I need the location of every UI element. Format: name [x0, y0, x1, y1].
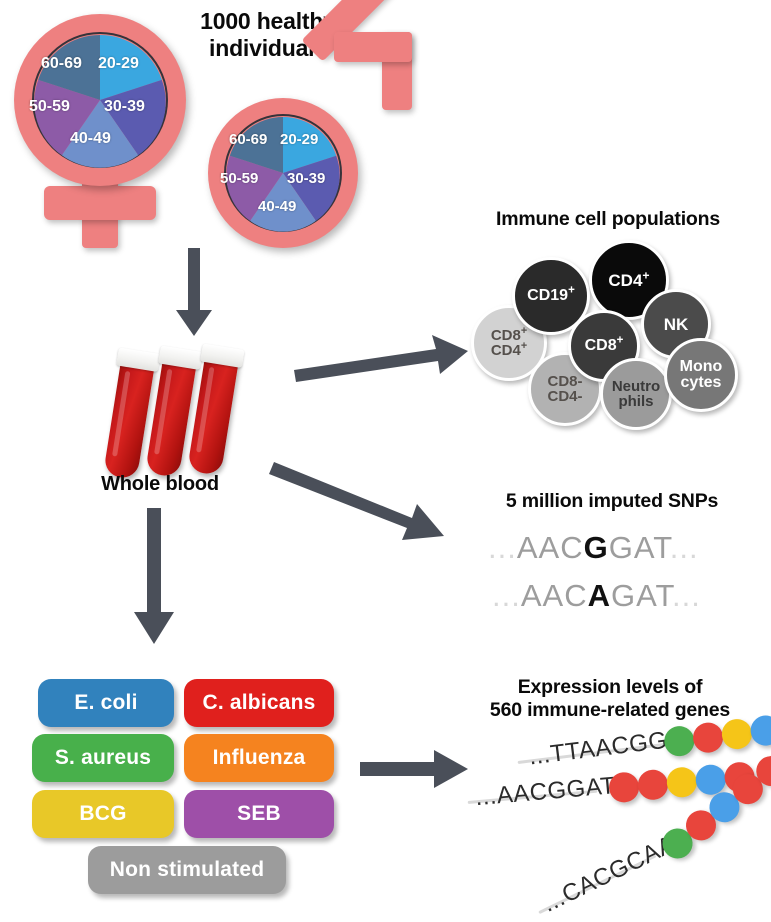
stimulus-e-coli[interactable]: E. coli	[38, 679, 174, 727]
stimulus-label: Non stimulated	[110, 858, 264, 882]
snp-variant-base: A	[588, 578, 611, 613]
cell-label: CD4+	[608, 272, 649, 289]
expression-strand-block: ...TTAACGG ...AACGGAT ...CACGCAA	[440, 700, 771, 922]
cell-label: NK	[664, 316, 689, 333]
cell-label: Mono cytes	[680, 359, 723, 391]
stimulus-seb[interactable]: SEB	[184, 790, 334, 838]
stimuli-panel: E. coli C. albicans S. aureus Influenza …	[0, 0, 380, 922]
strand-sequence: ...TTAACGG	[527, 727, 669, 772]
cell-label: Neutro phils	[612, 379, 660, 409]
snp-prefix-bases: AAC	[521, 578, 588, 613]
snp-suffix-bases: GAT	[609, 530, 670, 565]
snp-suffix-bases: GAT	[611, 578, 672, 613]
snp-leading-dots: ...	[492, 578, 521, 613]
snp-prefix-bases: AAC	[517, 530, 584, 565]
stimulus-label: E. coli	[74, 691, 137, 715]
expression-bead	[637, 769, 670, 802]
stimulus-label: C. albicans	[202, 691, 315, 715]
expression-bead	[691, 721, 724, 754]
stimulus-s-aureus[interactable]: S. aureus	[32, 734, 174, 782]
snp-trailing-dots: ...	[670, 530, 699, 565]
snp-sequence-row: ...AACGGAT...	[488, 530, 699, 566]
stimulus-influenza[interactable]: Influenza	[184, 734, 334, 782]
cell-label: CD19+	[527, 288, 575, 304]
cell-neutrophils: Neutro phils	[600, 358, 672, 430]
snp-sequence-row: ...AACAGAT...	[492, 578, 701, 614]
cell-label: CD8+	[585, 338, 624, 354]
snp-trailing-dots: ...	[672, 578, 701, 613]
stimulus-c-albicans[interactable]: C. albicans	[184, 679, 334, 727]
snps-title: 5 million imputed SNPs	[462, 490, 762, 513]
stimulus-non-stimulated[interactable]: Non stimulated	[88, 846, 286, 894]
stimulus-bcg[interactable]: BCG	[32, 790, 174, 838]
snp-leading-dots: ...	[488, 530, 517, 565]
stimulus-label: SEB	[237, 802, 281, 826]
stimulus-label: Influenza	[213, 746, 306, 770]
snp-variant-base: G	[584, 530, 609, 565]
strand-sequence: ...AACGGAT	[474, 772, 616, 812]
cell-label: CD8- CD4-	[547, 374, 582, 404]
cell-label: CD8+ CD4+	[491, 328, 527, 358]
snp-sequence-block: ...AACGGAT... ...AACAGAT...	[488, 530, 748, 620]
cell-monocytes: Mono cytes	[664, 338, 738, 412]
figure-canvas: 1000 healthyindividuals 20-29 30-39 40-4…	[0, 0, 771, 922]
expression-bead	[666, 766, 699, 799]
stimulus-label: S. aureus	[55, 746, 151, 770]
expression-bead	[749, 714, 771, 747]
stimulus-label: BCG	[79, 802, 126, 826]
expression-bead	[720, 717, 753, 750]
strand-sequence: ...CACGCAA	[538, 831, 679, 919]
